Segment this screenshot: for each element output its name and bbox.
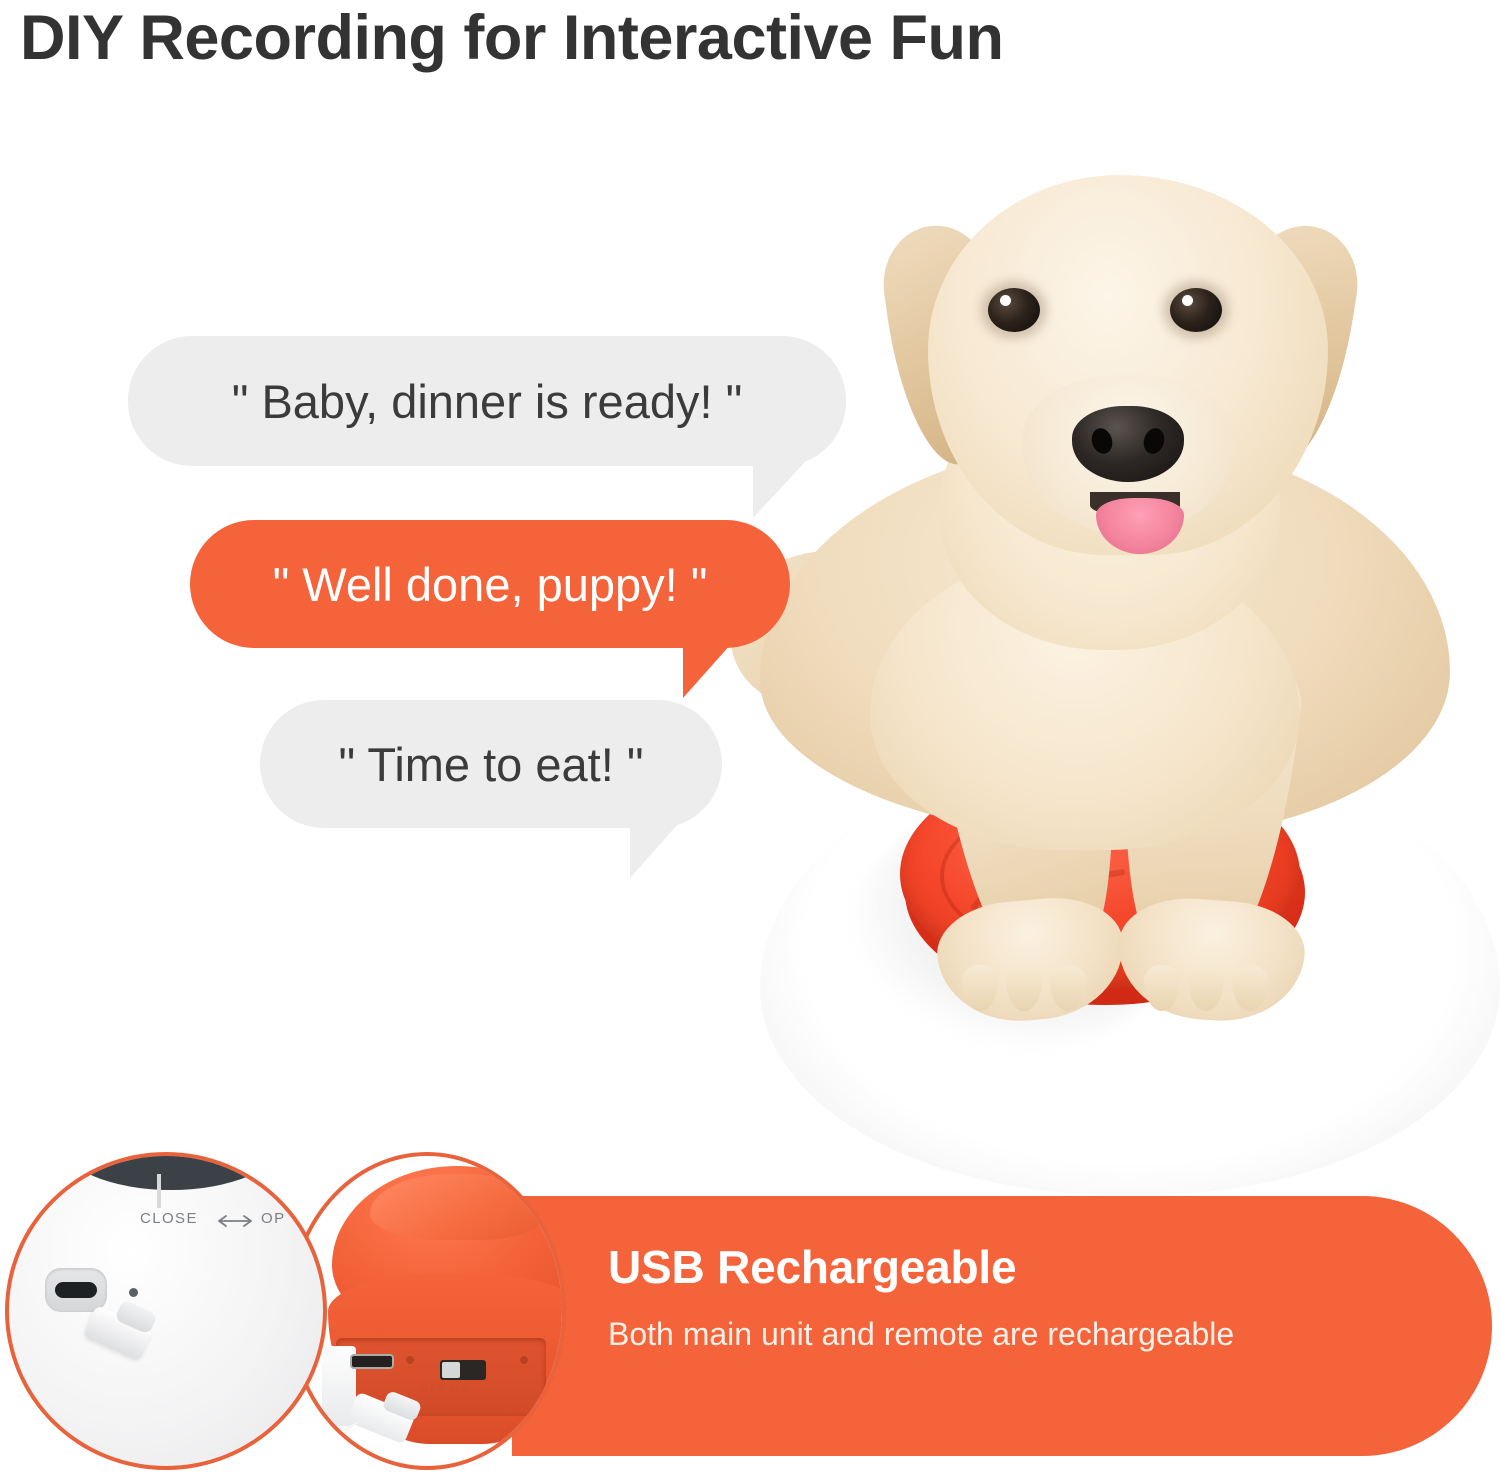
double-arrow-icon (212, 1214, 258, 1228)
puppy-eye-left (988, 288, 1040, 332)
usb-port-icon (350, 1354, 394, 1369)
speech-bubble-1-text: " Baby, dinner is ready! " (232, 374, 743, 429)
puppy-eye-glint (1182, 295, 1193, 306)
speech-bubble-3-text: " Time to eat! " (338, 737, 643, 792)
product-photo (700, 120, 1500, 1220)
banner-subtitle: Both main unit and remote are rechargeab… (608, 1316, 1234, 1353)
power-switch-label: OFF ON (420, 1384, 470, 1395)
speech-bubble-1-tail (753, 462, 805, 518)
screw-dot-icon (406, 1356, 414, 1364)
puppy-eye-glint (1000, 295, 1011, 306)
puppy-eye-right (1170, 288, 1222, 332)
main-unit-seam (157, 1174, 161, 1208)
remote-dome-ridge (370, 1174, 546, 1240)
speech-bubble-3: " Time to eat! " (260, 700, 722, 828)
inset-main-unit-charging (5, 1152, 327, 1470)
speech-bubble-2-tail (683, 644, 731, 698)
page-title: DIY Recording for Interactive Fun (20, 2, 1480, 74)
main-unit-dark-top (61, 1152, 281, 1190)
speech-bubble-1: " Baby, dinner is ready! " (128, 336, 846, 466)
open-label: OP (261, 1210, 285, 1227)
close-label: CLOSE (140, 1210, 198, 1227)
power-switch-knob[interactable] (442, 1362, 460, 1378)
banner-title: USB Rechargeable (608, 1240, 1016, 1294)
speech-bubble-3-tail (630, 824, 678, 878)
speech-bubble-2: " Well done, puppy! " (190, 520, 790, 648)
product-feature-image: DIY Recording for Interactive Fun (0, 0, 1500, 1482)
speech-bubble-2-text: " Well done, puppy! " (273, 557, 708, 612)
inset-remote-charging: OFF ON (288, 1152, 566, 1470)
screw-dot-icon (520, 1356, 528, 1364)
led-indicator-icon (129, 1288, 138, 1297)
usb-port-icon (55, 1282, 97, 1298)
